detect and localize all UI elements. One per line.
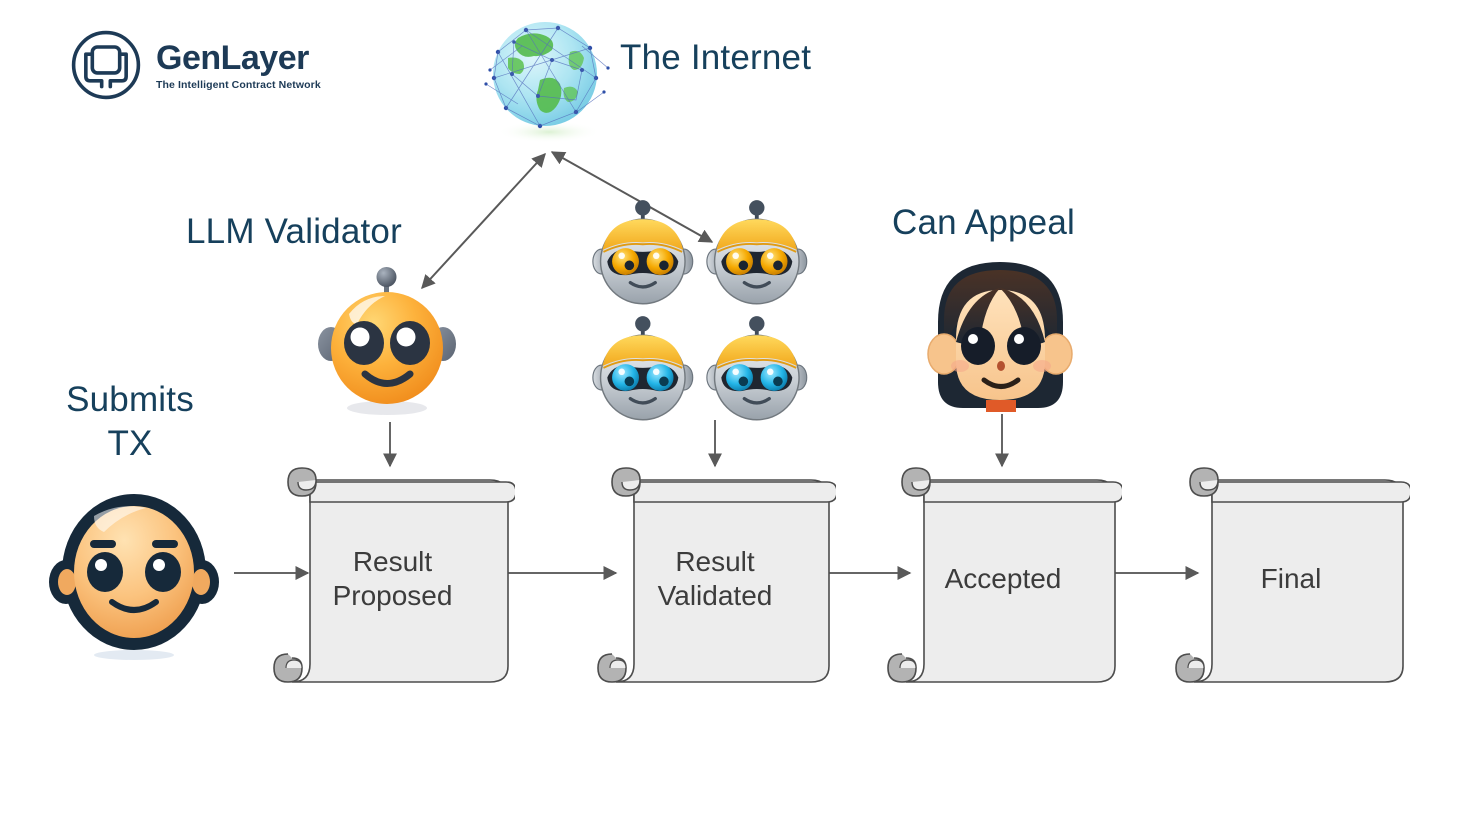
user-face-icon <box>38 490 228 665</box>
state-label-result-proposed: Result Proposed <box>270 545 515 613</box>
girl-face-icon <box>908 250 1093 430</box>
brand-name: GenLayer <box>156 41 321 77</box>
can-appeal-label: Can Appeal <box>892 203 1075 243</box>
llm-validator-label: LLM Validator <box>186 212 402 252</box>
robot-group-icon <box>588 200 828 425</box>
state-card-result-proposed[interactable]: Result Proposed <box>270 458 515 690</box>
state-card-result-validated[interactable]: Result Validated <box>594 458 836 690</box>
submits-tx-label: Submits TX <box>45 378 215 466</box>
globe-network-icon <box>478 12 620 144</box>
diagram-canvas: GenLayer The Intelligent Contract Networ… <box>0 0 1465 824</box>
internet-label: The Internet <box>620 38 811 78</box>
state-card-accepted[interactable]: Accepted <box>884 458 1122 690</box>
state-label-result-validated: Result Validated <box>594 545 836 613</box>
orange-robot-icon <box>305 258 470 423</box>
genlayer-bracket-icon <box>70 29 142 101</box>
genlayer-logo: GenLayer The Intelligent Contract Networ… <box>70 24 400 106</box>
brand-tagline: The Intelligent Contract Network <box>156 79 321 91</box>
state-label-accepted: Accepted <box>884 562 1122 596</box>
state-label-final: Final <box>1172 562 1410 596</box>
logo-text-block: GenLayer The Intelligent Contract Networ… <box>156 39 321 92</box>
state-card-final[interactable]: Final <box>1172 458 1410 690</box>
